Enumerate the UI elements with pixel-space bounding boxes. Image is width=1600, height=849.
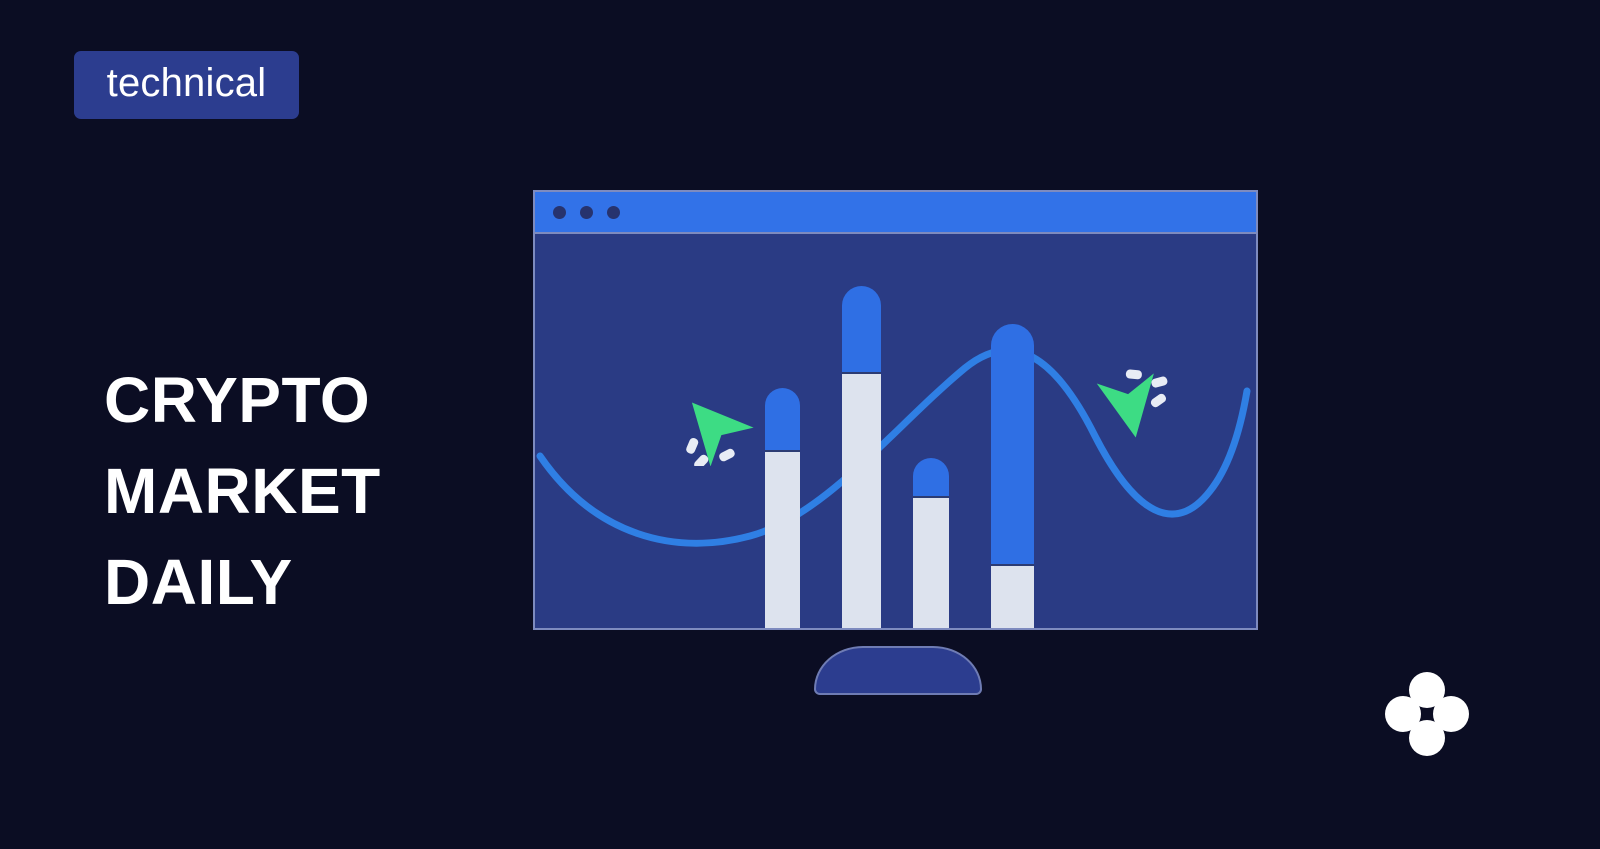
- monitor-screen: [533, 190, 1258, 630]
- chart-bar-3: [913, 458, 949, 630]
- chart-bar-1: [765, 388, 800, 630]
- close-dot-icon[interactable]: [553, 206, 566, 219]
- title-line-1: CRYPTO: [104, 355, 534, 446]
- chart-bar-4-stem: [991, 564, 1034, 630]
- clover-logo: [1385, 672, 1469, 756]
- chart-bar-2: [842, 286, 881, 630]
- monitor-stand: [814, 646, 982, 695]
- chart-canvas: [535, 236, 1256, 630]
- maximize-dot-icon[interactable]: [607, 206, 620, 219]
- chart-bar-3-cap: [913, 458, 949, 498]
- chart-bar-2-cap: [842, 286, 881, 374]
- technical-badge-label: technical: [107, 63, 267, 107]
- technical-badge: technical: [74, 51, 299, 119]
- title-line-3: DAILY: [104, 537, 534, 628]
- chart-bar-2-stem: [842, 372, 881, 630]
- chart-bar-4: [991, 324, 1034, 630]
- chart-bar-1-cap: [765, 388, 800, 452]
- minimize-dot-icon[interactable]: [580, 206, 593, 219]
- chart-bar-3-stem: [913, 496, 949, 630]
- cursor-arrow-down-icon: [1087, 366, 1173, 444]
- cursor-arrow-up-icon: [671, 388, 757, 466]
- chart-bar-4-cap: [991, 324, 1034, 566]
- chart-bar-1-stem: [765, 450, 800, 630]
- clover-logo-icon: [1385, 672, 1469, 756]
- window-titlebar: [535, 192, 1256, 234]
- page-title: CRYPTO MARKET DAILY: [104, 355, 534, 628]
- monitor-illustration: [533, 190, 1258, 696]
- title-line-2: MARKET: [104, 446, 534, 537]
- window-controls: [553, 206, 620, 219]
